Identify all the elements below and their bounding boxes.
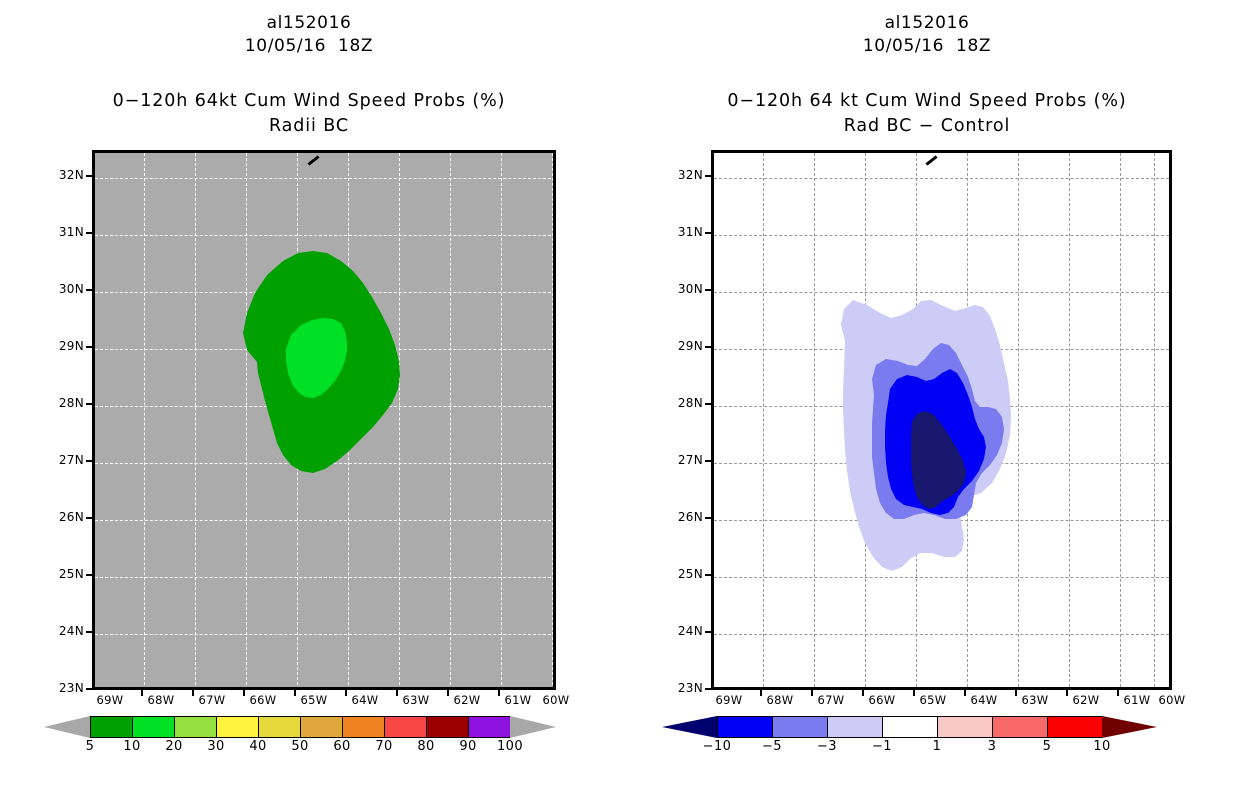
colorbar-tick-label: 60 <box>319 739 365 754</box>
ytick-label: 32N <box>669 168 703 182</box>
colorbar-tick-label: 50 <box>277 739 323 754</box>
colorbar-swatch-1-3 <box>937 716 992 738</box>
colorbar-tick-label: 20 <box>151 739 197 754</box>
colorbar-tick-label: 80 <box>403 739 449 754</box>
ytick-label: 29N <box>669 339 703 353</box>
colorbar-tick-label: 1 <box>914 739 960 754</box>
ytick <box>705 574 711 576</box>
colorbar-swatch-70-80 <box>384 716 426 738</box>
colorbar-swatch-neg3-neg1 <box>827 716 882 738</box>
colorbar-swatch-5-10 <box>1047 716 1102 738</box>
ytick-label: 26N <box>669 510 703 524</box>
colorbar-over-arrow <box>1102 716 1157 738</box>
ytick <box>705 631 711 633</box>
panel-right: al152016 10/05/16 18Z 0−120h 64 kt Cum W… <box>618 0 1236 800</box>
colorbar-tick-label: 10 <box>109 739 155 754</box>
right-chart-subtitle: Rad BC − Control <box>618 114 1236 139</box>
ytick <box>705 517 711 519</box>
colorbar-tick-label: 10 <box>1079 739 1125 754</box>
colorbar-swatch-40-50 <box>258 716 300 738</box>
xtick-label: 68W <box>141 693 181 707</box>
colorbar-swatch-10-20 <box>132 716 174 738</box>
ytick-label: 24N <box>669 624 703 638</box>
left-main-title-block: 0−120h 64kt Cum Wind Speed Probs (%) Rad… <box>0 89 618 139</box>
ytick <box>86 289 92 291</box>
left-datetime: 10/05/16 18Z <box>0 35 618 58</box>
ytick-label: 23N <box>50 681 84 695</box>
right-main-title-block: 0−120h 64 kt Cum Wind Speed Probs (%) Ra… <box>618 89 1236 139</box>
left-chart-subtitle: Radii BC <box>0 114 618 139</box>
colorbar-tick-label: 70 <box>361 739 407 754</box>
xtick-label: 63W <box>396 693 436 707</box>
right-chart-title: 0−120h 64 kt Cum Wind Speed Probs (%) <box>618 89 1236 114</box>
left-title-block: al152016 10/05/16 18Z <box>0 12 618 58</box>
ytick <box>86 460 92 462</box>
xtick-label: 61W <box>498 693 538 707</box>
right-datetime: 10/05/16 18Z <box>618 35 1236 58</box>
colorbar-swatch-neg1-1 <box>882 716 937 738</box>
ytick-label: 25N <box>669 567 703 581</box>
ytick <box>86 232 92 234</box>
ytick-label: 23N <box>669 681 703 695</box>
ytick-label: 30N <box>50 282 84 296</box>
ytick-label: 26N <box>50 510 84 524</box>
colorbar-tick-label: −1 <box>859 739 905 754</box>
colorbar-tick-label: 3 <box>969 739 1015 754</box>
ytick-label: 25N <box>50 567 84 581</box>
ytick <box>705 403 711 405</box>
xtick-label: 69W <box>709 693 749 707</box>
colorbar-over-arrow <box>510 716 556 738</box>
colorbar-under-arrow <box>44 716 90 738</box>
panel-left: al152016 10/05/16 18Z 0−120h 64kt Cum Wi… <box>0 0 618 800</box>
left-map-area[interactable] <box>92 150 556 690</box>
xtick-label: 66W <box>243 693 283 707</box>
xtick-label: 62W <box>1066 693 1106 707</box>
colorbar-tick-label: 5 <box>1024 739 1070 754</box>
ytick-label: 24N <box>50 624 84 638</box>
xtick-label: 65W <box>913 693 953 707</box>
ytick <box>705 460 711 462</box>
xtick-label: 61W <box>1117 693 1157 707</box>
ytick <box>86 517 92 519</box>
ytick-label: 28N <box>50 396 84 410</box>
ytick <box>86 403 92 405</box>
xtick-label: 68W <box>760 693 800 707</box>
colorbar-swatch-60-70 <box>342 716 384 738</box>
ytick-label: 27N <box>50 453 84 467</box>
colorbar-tick-label: −10 <box>694 739 740 754</box>
colorbar-swatch-20-30 <box>174 716 216 738</box>
colorbar-swatch-90-100 <box>468 716 510 738</box>
xtick-label: 66W <box>862 693 902 707</box>
colorbar-swatch-30-40 <box>216 716 258 738</box>
ytick <box>86 631 92 633</box>
ytick <box>705 289 711 291</box>
xtick-label: 67W <box>811 693 851 707</box>
colorbar-tick-label: −3 <box>804 739 850 754</box>
ytick <box>86 175 92 177</box>
ytick <box>86 574 92 576</box>
xtick-label: 60W <box>536 693 576 707</box>
right-difference-contours <box>714 153 1172 690</box>
right-storm-id: al152016 <box>618 12 1236 35</box>
colorbar-tick-label: −5 <box>749 739 795 754</box>
left-chart-title: 0−120h 64kt Cum Wind Speed Probs (%) <box>0 89 618 114</box>
xtick-label: 64W <box>345 693 385 707</box>
colorbar-swatch-3-5 <box>992 716 1047 738</box>
ytick <box>705 232 711 234</box>
colorbar-tick-label: 100 <box>487 739 533 754</box>
ytick <box>705 175 711 177</box>
xtick-label: 60W <box>1152 693 1192 707</box>
ytick <box>86 688 92 690</box>
ytick-label: 27N <box>669 453 703 467</box>
colorbar-tick-label: 30 <box>193 739 239 754</box>
colorbar-tick-label: 90 <box>445 739 491 754</box>
ytick <box>705 346 711 348</box>
xtick-label: 62W <box>447 693 487 707</box>
colorbar-under-arrow <box>662 716 717 738</box>
ytick-label: 29N <box>50 339 84 353</box>
xtick-label: 67W <box>192 693 232 707</box>
colorbar-swatch-5-10 <box>90 716 132 738</box>
xtick-label: 64W <box>964 693 1004 707</box>
ytick-label: 28N <box>669 396 703 410</box>
left-probability-contours <box>95 153 556 690</box>
ytick <box>86 346 92 348</box>
ytick-label: 32N <box>50 168 84 182</box>
colorbar-tick-label: 5 <box>67 739 113 754</box>
ytick <box>705 688 711 690</box>
left-storm-id: al152016 <box>0 12 618 35</box>
colorbar-swatch-50-60 <box>300 716 342 738</box>
colorbar-swatch-80-90 <box>426 716 468 738</box>
ytick-label: 31N <box>669 225 703 239</box>
colorbar-swatch-neg10-neg5 <box>717 716 772 738</box>
xtick-label: 69W <box>90 693 130 707</box>
right-title-block: al152016 10/05/16 18Z <box>618 12 1236 58</box>
colorbar-tick-label: 40 <box>235 739 281 754</box>
xtick-label: 63W <box>1015 693 1055 707</box>
right-map-area[interactable] <box>711 150 1172 690</box>
colorbar-swatch-neg5-neg3 <box>772 716 827 738</box>
xtick-label: 65W <box>294 693 334 707</box>
ytick-label: 31N <box>50 225 84 239</box>
ytick-label: 30N <box>669 282 703 296</box>
